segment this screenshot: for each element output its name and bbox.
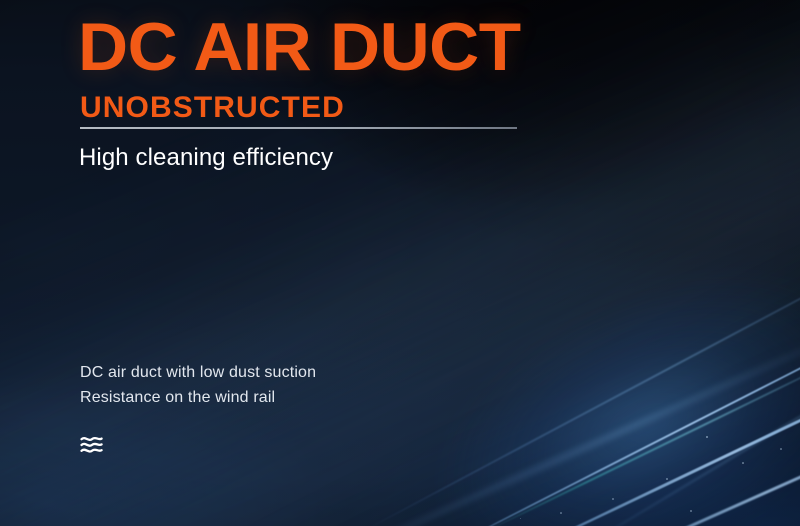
title-divider: [80, 127, 517, 129]
banner-content: DC AIR DUCT UNOBSTRUCTED High cleaning e…: [0, 0, 800, 526]
airflow-waves-icon: [79, 434, 105, 456]
banner-tagline: High cleaning efficiency: [79, 144, 333, 172]
product-feature-banner: DC AIR DUCT UNOBSTRUCTED High cleaning e…: [0, 0, 800, 526]
banner-description: DC air duct with low dust suction Resist…: [80, 360, 316, 410]
banner-subtitle: UNOBSTRUCTED: [80, 91, 345, 125]
description-line-1: DC air duct with low dust suction: [80, 360, 316, 385]
description-line-2: Resistance on the wind rail: [80, 385, 316, 410]
banner-title: DC AIR DUCT: [78, 13, 521, 81]
